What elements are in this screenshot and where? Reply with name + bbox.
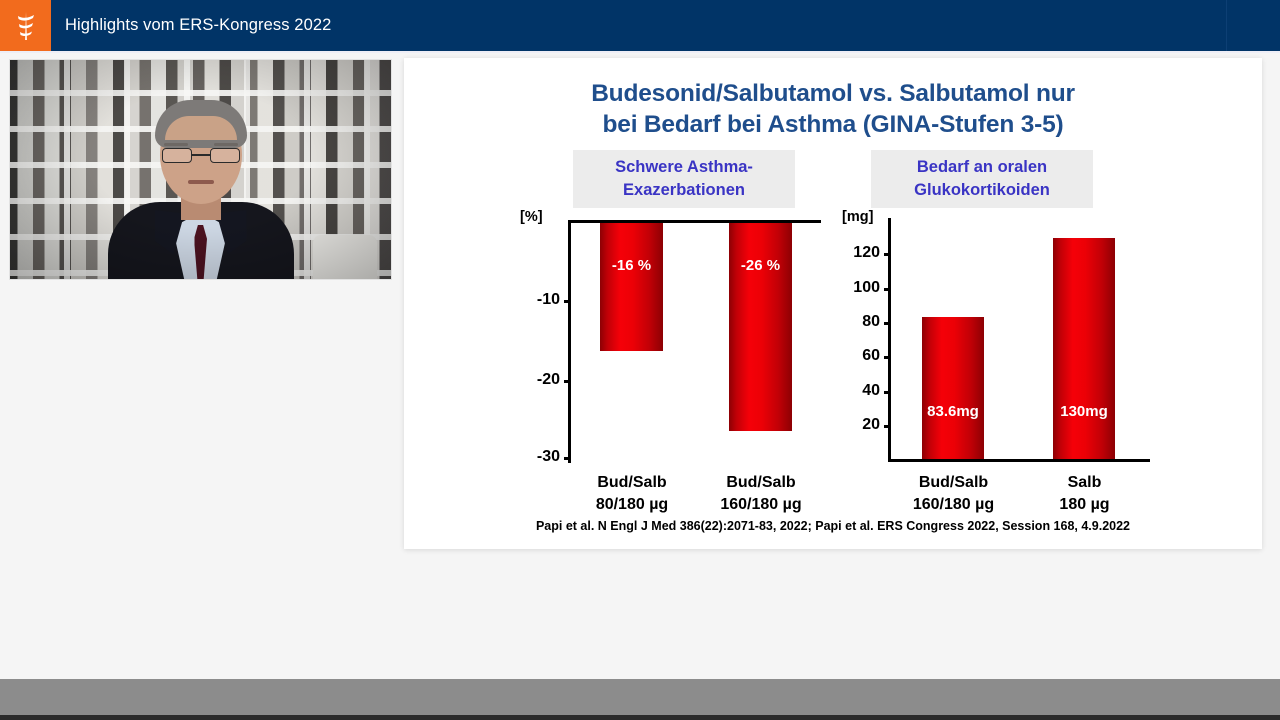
chart-glucocorticoids: [mg] 120 100 80 60 40 20 83.6mg Bud/Salb… bbox=[834, 214, 1164, 514]
chart-exacerbations-tick-1 bbox=[564, 300, 571, 303]
chart-exacerbations-y-axis bbox=[568, 220, 571, 463]
chart-glucocorticoids-ytick-label-80: 80 bbox=[834, 313, 880, 331]
chart-exacerbations-bar-2-value: -26 % bbox=[729, 257, 792, 274]
chart-exacerbations-xlabel-1: Bud/Salb 80/180 µg bbox=[568, 472, 696, 516]
chart-glucocorticoids-ytick-label-120: 120 bbox=[834, 244, 880, 262]
slide-title-line-2: bei Bedarf bei Asthma (GINA-Stufen 3-5) bbox=[404, 109, 1262, 140]
footer-bottom-strip bbox=[0, 715, 1280, 720]
chart-glucocorticoids-ytick-label-40: 40 bbox=[834, 382, 880, 400]
chart-subtitle-row: Schwere Asthma- Exazerbationen Bedarf an… bbox=[404, 150, 1262, 208]
chart-exacerbations-bar-1 bbox=[600, 223, 663, 351]
chart-glucocorticoids-ytick-label-100: 100 bbox=[834, 279, 880, 297]
header-divider bbox=[1226, 0, 1227, 51]
video-vignette bbox=[10, 60, 391, 279]
chart-glucocorticoids-xlabel-2-line-1: Salb bbox=[1022, 472, 1147, 494]
slide-citation: Papi et al. N Engl J Med 386(22):2071-83… bbox=[404, 519, 1262, 533]
chart-glucocorticoids-bar-1-value: 83.6mg bbox=[922, 403, 984, 420]
chart-exacerbations-ytick-label-3: -30 bbox=[512, 448, 560, 466]
chart-glucocorticoids-tick-120 bbox=[884, 253, 891, 256]
chart-glucocorticoids-xlabel-1-line-1: Bud/Salb bbox=[891, 472, 1016, 494]
chart-subtitle-right-line-1: Bedarf an oralen bbox=[885, 156, 1079, 179]
asclepius-rod-icon bbox=[15, 11, 37, 41]
slide-title: Budesonid/Salbutamol vs. Salbutamol nur … bbox=[404, 78, 1262, 140]
chart-exacerbations-xlabel-1-line-2: 80/180 µg bbox=[568, 494, 696, 516]
chart-exacerbations-xlabel-2-line-2: 160/180 µg bbox=[696, 494, 826, 516]
chart-exacerbations-xlabel-2-line-1: Bud/Salb bbox=[696, 472, 826, 494]
chart-subtitle-right: Bedarf an oralen Glukokortikoiden bbox=[871, 150, 1093, 208]
chart-glucocorticoids-xlabel-2: Salb 180 µg bbox=[1022, 472, 1147, 516]
chart-glucocorticoids-bar-2 bbox=[1053, 238, 1115, 459]
speaker-video-tile[interactable] bbox=[10, 60, 391, 279]
chart-glucocorticoids-x-axis bbox=[888, 459, 1150, 462]
slide-panel: Budesonid/Salbutamol vs. Salbutamol nur … bbox=[404, 58, 1262, 549]
chart-exacerbations-tick-3 bbox=[564, 457, 571, 460]
chart-subtitle-left-line-2: Exazerbationen bbox=[587, 179, 781, 202]
app-header: Highlights vom ERS-Kongress 2022 bbox=[0, 0, 1280, 51]
chart-glucocorticoids-tick-20 bbox=[884, 425, 891, 428]
chart-glucocorticoids-xlabel-1: Bud/Salb 160/180 µg bbox=[891, 472, 1016, 516]
chart-exacerbations-xlabel-1-line-1: Bud/Salb bbox=[568, 472, 696, 494]
chart-glucocorticoids-ytick-label-60: 60 bbox=[834, 347, 880, 365]
chart-glucocorticoids-xlabel-2-line-2: 180 µg bbox=[1022, 494, 1147, 516]
chart-exacerbations-tick-2 bbox=[564, 380, 571, 383]
chart-glucocorticoids-tick-60 bbox=[884, 356, 891, 359]
chart-exacerbations-bar-2 bbox=[729, 223, 792, 431]
chart-glucocorticoids-bar-2-value: 130mg bbox=[1053, 403, 1115, 420]
chart-subtitle-left-line-1: Schwere Asthma- bbox=[587, 156, 781, 179]
chart-glucocorticoids-ytick-label-20: 20 bbox=[834, 416, 880, 434]
chart-subtitle-left: Schwere Asthma- Exazerbationen bbox=[573, 150, 795, 208]
chart-subtitle-right-line-2: Glukokortikoiden bbox=[885, 179, 1079, 202]
chart-glucocorticoids-y-unit: [mg] bbox=[842, 209, 873, 225]
chart-exacerbations-ytick-label-2: -20 bbox=[512, 371, 560, 389]
chart-exacerbations-bar-1-value: -16 % bbox=[600, 257, 663, 274]
chart-exacerbations: [%] -10 -20 -30 -16 % Bud/Salb 80/180 µg… bbox=[514, 214, 834, 514]
header-underline bbox=[0, 51, 1280, 53]
chart-glucocorticoids-tick-40 bbox=[884, 391, 891, 394]
chart-glucocorticoids-tick-80 bbox=[884, 322, 891, 325]
chart-glucocorticoids-bar-1 bbox=[922, 317, 984, 459]
chart-exacerbations-ytick-label-1: -10 bbox=[512, 291, 560, 309]
slide-title-line-1: Budesonid/Salbutamol vs. Salbutamol nur bbox=[404, 78, 1262, 109]
charts-container: [%] -10 -20 -30 -16 % Bud/Salb 80/180 µg… bbox=[404, 214, 1262, 514]
chart-glucocorticoids-xlabel-1-line-2: 160/180 µg bbox=[891, 494, 1016, 516]
brand-logo[interactable] bbox=[0, 0, 51, 51]
chart-exacerbations-xlabel-2: Bud/Salb 160/180 µg bbox=[696, 472, 826, 516]
footer-bar: Eine Plattform der KWHC GmbH - HEALTH LI… bbox=[0, 679, 1280, 715]
chart-glucocorticoids-tick-100 bbox=[884, 288, 891, 291]
chart-exacerbations-y-unit: [%] bbox=[520, 209, 543, 225]
page-title: Highlights vom ERS-Kongress 2022 bbox=[65, 16, 331, 35]
